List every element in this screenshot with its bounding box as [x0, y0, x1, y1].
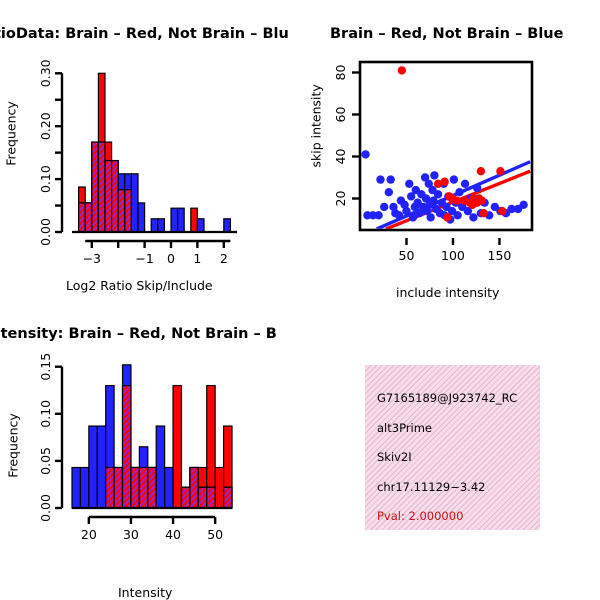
scatter-point: [430, 171, 438, 179]
histogram-bar-blue: [197, 219, 204, 232]
histogram-bar-red: [215, 467, 223, 508]
scatter-point: [478, 196, 486, 204]
histogram-bar-overlap: [198, 487, 206, 508]
scatter-point: [402, 207, 410, 215]
x-tick-label: 150: [488, 248, 512, 263]
x-tick-label: 2: [220, 251, 228, 266]
histogram-bar-overlap: [125, 190, 132, 232]
x-axis-label-log2ratio: Log2 Ratio Skip/Include: [66, 278, 213, 293]
scatter-point: [361, 150, 369, 158]
histogram-bar-overlap: [106, 467, 114, 508]
x-tick-label: 40: [165, 527, 181, 542]
event-info-box: G7165189@J923742_RC alt3Prime Skiv2I chr…: [365, 365, 540, 530]
histogram-bar-overlap: [224, 487, 232, 508]
scatter-point: [498, 207, 506, 215]
scatter-point: [461, 180, 469, 188]
scatter-point: [385, 188, 393, 196]
intensity-bars: [72, 365, 232, 508]
scatter-point: [440, 178, 448, 186]
histogram-bar-overlap: [148, 467, 156, 508]
scatter-point: [452, 196, 460, 204]
y-tick-label: 0.10: [38, 165, 53, 193]
info-gene-symbol: Skiv2I: [377, 450, 540, 464]
y-tick-label: 0.10: [38, 400, 53, 428]
histogram-bar-blue: [72, 467, 80, 508]
scatter-point: [395, 211, 403, 219]
panel-title-scatter: Brain – Red, Not Brain – Blue: [330, 26, 563, 42]
scatter-point: [434, 190, 442, 198]
x-tick-label: 30: [123, 527, 139, 542]
histogram-bar-red: [191, 208, 198, 232]
y-tick-label: 0.00: [38, 494, 53, 522]
histogram-bar-blue: [224, 219, 231, 232]
scatter-point: [380, 203, 388, 211]
x-tick-label: −1: [135, 251, 153, 266]
histogram-bar-blue: [178, 208, 185, 232]
x-tick-label: 0: [167, 251, 175, 266]
info-locus: chr17.11129−3.42: [377, 480, 540, 494]
panel-ratio-histogram: RatioData: Brain – Red, Not Brain – Blu …: [0, 0, 300, 300]
x-axis: [85, 241, 230, 248]
histogram-bar-overlap: [123, 386, 131, 508]
histogram-bar-red: [173, 386, 181, 508]
y-tick-label: 0.00: [38, 218, 53, 246]
histogram-bar-overlap: [105, 161, 112, 232]
histogram-bar-overlap: [114, 467, 122, 508]
scatter-point: [479, 209, 487, 217]
histogram-bar-overlap: [131, 467, 139, 508]
scatter-point: [374, 211, 382, 219]
histogram-bar-blue: [158, 219, 165, 232]
y-axis: [55, 73, 62, 232]
y-tick-label: 0.15: [38, 353, 53, 381]
histogram-bar-blue: [171, 208, 178, 232]
scatter-point: [376, 175, 384, 183]
histogram-bar-blue: [165, 467, 173, 508]
histogram-bar-overlap: [92, 142, 99, 232]
scatter-point: [519, 201, 527, 209]
scatter-point: [453, 211, 461, 219]
ratio-bars: [79, 73, 231, 232]
histogram-bar-overlap: [181, 487, 189, 508]
info-event-type: alt3Prime: [377, 421, 540, 435]
histogram-bar-overlap: [98, 142, 105, 232]
y-tick-label: 80: [333, 65, 348, 81]
histogram-bar-blue: [138, 203, 145, 232]
histogram-bar-overlap: [118, 190, 125, 232]
histogram-bar-blue: [156, 426, 164, 508]
panel-include-intensity-histogram: ne Itensity: Brain – Red, Not Brain – B …: [0, 300, 300, 600]
x-axis: [89, 517, 215, 524]
y-axis: [55, 367, 62, 508]
info-box-lines: G7165189@J923742_RC alt3Prime Skiv2I chr…: [377, 391, 540, 530]
y-tick-label: 40: [333, 149, 348, 165]
x-tick-label: 50: [207, 527, 223, 542]
scatter-points: [361, 66, 527, 224]
scatter-point: [473, 184, 481, 192]
histogram-bar-blue: [89, 426, 97, 508]
y-tick-label: 0.30: [38, 59, 53, 87]
histogram-bar-blue: [131, 174, 138, 232]
histogram-bar-overlap: [112, 161, 119, 232]
scatter-point: [469, 213, 477, 221]
info-pval: Pval: 2.000000: [377, 509, 540, 523]
info-event-id: G7165189@J923742_RC: [377, 391, 540, 405]
panel-title-ratio: RatioData: Brain – Red, Not Brain – Blu: [0, 26, 289, 42]
x-tick-label: −3: [83, 251, 101, 266]
x-tick-label: 50: [399, 248, 415, 263]
histogram-bar-overlap: [79, 203, 86, 232]
panel-title-include-intensity: ne Itensity: Brain – Red, Not Brain – B: [0, 326, 277, 342]
y-axis-label-skip-intensity: skip intensity: [276, 120, 356, 135]
scatter-point: [386, 175, 394, 183]
scatter-point: [477, 167, 485, 175]
scatter-plot: 2040608050100150: [300, 0, 600, 300]
x-axis-label-include-intensity: include intensity: [396, 285, 499, 300]
scatter-point: [450, 175, 458, 183]
scatter-point: [398, 66, 406, 74]
scatter-point: [443, 213, 451, 221]
histogram-bar-overlap: [139, 467, 147, 508]
scatter-point: [405, 180, 413, 188]
panel-intensity-scatter: Brain – Red, Not Brain – Blue skip inten…: [300, 0, 600, 300]
y-axis-label-frequency-2: Frequency: [0, 438, 48, 453]
scatter-point: [455, 188, 463, 196]
x-axis: [406, 238, 499, 245]
x-axis-label-intensity: Intensity: [118, 585, 172, 600]
y-tick-label: 20: [333, 191, 348, 207]
x-tick-label: 100: [441, 248, 465, 263]
ratio-histogram-plot: 0.000.100.200.30−3−1012: [0, 0, 300, 300]
histogram-bar-blue: [80, 467, 88, 508]
x-tick-label: 20: [81, 527, 97, 542]
y-axis-label-frequency-1: Frequency: [0, 126, 46, 141]
histogram-bar-overlap: [190, 467, 198, 508]
scatter-point: [426, 213, 434, 221]
histogram-bar-blue: [151, 219, 158, 232]
histogram-bar-overlap: [85, 203, 92, 232]
histogram-bar-blue: [97, 426, 105, 508]
x-tick-label: 1: [193, 251, 201, 266]
scatter-point: [496, 167, 504, 175]
histogram-bar-overlap: [207, 487, 215, 508]
